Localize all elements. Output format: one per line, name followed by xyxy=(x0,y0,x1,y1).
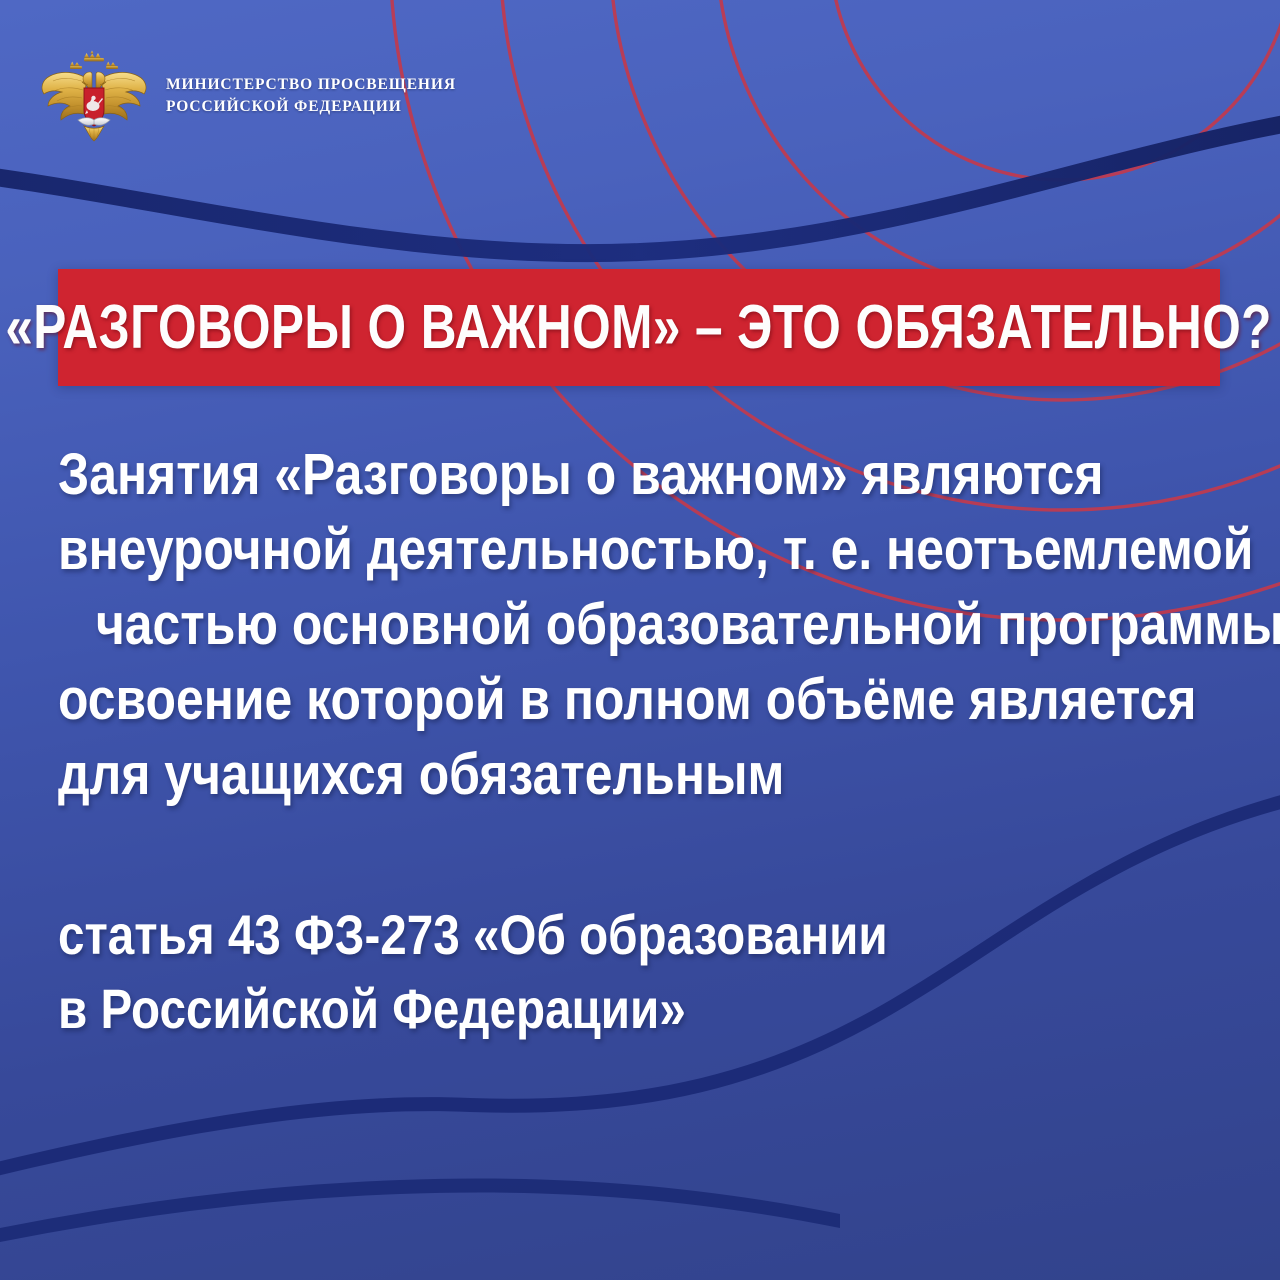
bottom-wave-curve-lower xyxy=(0,1178,840,1246)
emblem-tail xyxy=(84,126,104,141)
body-line: освоение которой в полном объёме являетс… xyxy=(58,662,1073,737)
ministry-wordmark-line-2: РОССИЙСКОЙ ФЕДЕРАЦИИ xyxy=(166,96,456,118)
body-line: для учащихся обязательным xyxy=(58,737,1073,812)
body-line: Занятия «Разговоры о важном» являются xyxy=(58,437,1073,512)
headline-text: «РАЗГОВОРЫ О ВАЖНОМ» – ЭТО ОБЯЗАТЕЛЬНО? xyxy=(6,297,1273,359)
legal-citation: статья 43 ФЗ-273 «Об образовании в Росси… xyxy=(58,898,1158,1046)
body-line: внеурочной деятельностью, т. е. неотъемл… xyxy=(58,512,1073,587)
body-paragraph: Занятия «Разговоры о важном» являются вн… xyxy=(58,437,1238,812)
ministry-wordmark: МИНИСТЕРСТВО ПРОСВЕЩЕНИЯ РОССИЙСКОЙ ФЕДЕ… xyxy=(166,74,456,118)
emblem-crowns xyxy=(70,51,118,70)
citation-line: в Российской Федерации» xyxy=(58,972,993,1046)
ministry-wordmark-line-1: МИНИСТЕРСТВО ПРОСВЕЩЕНИЯ xyxy=(166,74,456,96)
emblem-left-wing xyxy=(42,72,86,120)
headline-banner: «РАЗГОВОРЫ О ВАЖНОМ» – ЭТО ОБЯЗАТЕЛЬНО? xyxy=(58,269,1220,386)
russian-double-headed-eagle-emblem xyxy=(40,48,148,144)
emblem-right-wing xyxy=(102,72,146,120)
header: МИНИСТЕРСТВО ПРОСВЕЩЕНИЯ РОССИЙСКОЙ ФЕДЕ… xyxy=(40,48,456,144)
body-line: частью основной образовательной программ… xyxy=(58,587,1073,662)
citation-line: статья 43 ФЗ-273 «Об образовании xyxy=(58,898,993,972)
poster-canvas: МИНИСТЕРСТВО ПРОСВЕЩЕНИЯ РОССИЙСКОЙ ФЕДЕ… xyxy=(0,0,1280,1280)
